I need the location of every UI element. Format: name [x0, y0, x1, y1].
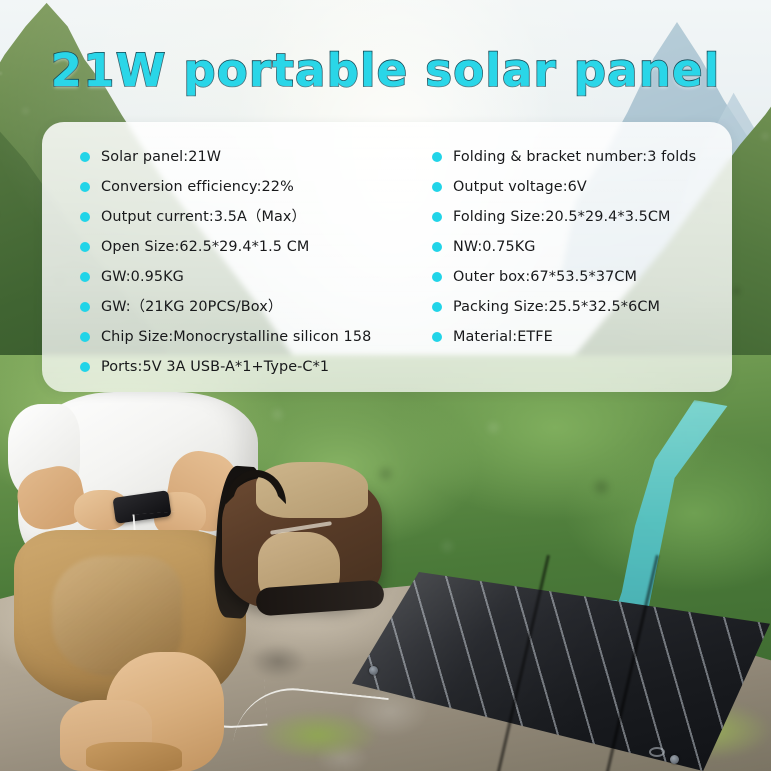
list-item: Folding Size:20.5*29.4*3.5CM [432, 202, 732, 232]
bullet-dot-icon [432, 182, 442, 192]
spec-label: Packing Size:25.5*32.5*6CM [453, 292, 660, 322]
list-item: GW:0.95KG [80, 262, 432, 292]
list-item: Solar panel:21W [80, 142, 432, 172]
spec-label: Folding Size:20.5*29.4*3.5CM [453, 202, 671, 232]
spec-label: Output current:3.5A（Max） [101, 202, 306, 232]
list-item: Output current:3.5A（Max） [80, 202, 432, 232]
bullet-dot-icon [80, 362, 90, 372]
bullet-dot-icon [80, 302, 90, 312]
spec-column-right: Folding & bracket number:3 folds Output … [432, 122, 732, 392]
spec-label: Open Size:62.5*29.4*1.5 CM [101, 232, 309, 262]
spec-label: NW:0.75KG [453, 232, 536, 262]
list-item: GW:（21KG 20PCS/Box） [80, 292, 432, 322]
spec-label: GW:0.95KG [101, 262, 184, 292]
bullet-dot-icon [80, 242, 90, 252]
spec-label: Chip Size:Monocrystalline silicon 158 [101, 322, 371, 352]
bullet-dot-icon [432, 302, 442, 312]
person-foot [86, 742, 182, 771]
spec-label: Output voltage:6V [453, 172, 587, 202]
spec-card: Solar panel:21W Conversion efficiency:22… [42, 122, 732, 392]
spec-label: Outer box:67*53.5*37CM [453, 262, 637, 292]
list-item: Packing Size:25.5*32.5*6CM [432, 292, 732, 322]
list-item: Ports:5V 3A USB-A*1+Type-C*1 [80, 352, 432, 382]
list-item: Open Size:62.5*29.4*1.5 CM [80, 232, 432, 262]
bullet-dot-icon [80, 332, 90, 342]
list-item: Outer box:67*53.5*37CM [432, 262, 732, 292]
solar-panel-logo [649, 747, 665, 757]
list-item: Material:ETFE [432, 322, 732, 352]
list-item: Folding & bracket number:3 folds [432, 142, 732, 172]
bullet-dot-icon [80, 182, 90, 192]
bullet-dot-icon [80, 272, 90, 282]
bullet-dot-icon [432, 242, 442, 252]
bullet-dot-icon [432, 152, 442, 162]
solar-panel-icon [352, 572, 770, 771]
spec-label: Conversion efficiency:22% [101, 172, 294, 202]
spec-label: Ports:5V 3A USB-A*1+Type-C*1 [101, 352, 329, 382]
solar-panel-grommet [369, 666, 378, 675]
list-item: Output voltage:6V [432, 172, 732, 202]
bullet-dot-icon [432, 272, 442, 282]
solar-panel-grommet [670, 755, 679, 764]
page-title: 21W portable solar panel [0, 44, 771, 97]
solar-panel-sheen [352, 572, 770, 771]
spec-column-left: Solar panel:21W Conversion efficiency:22… [42, 122, 432, 392]
bullet-dot-icon [80, 212, 90, 222]
spec-label: Material:ETFE [453, 322, 553, 352]
bullet-dot-icon [432, 212, 442, 222]
list-item: NW:0.75KG [432, 232, 732, 262]
bullet-dot-icon [80, 152, 90, 162]
spec-label: Folding & bracket number:3 folds [453, 142, 696, 172]
list-item: Conversion efficiency:22% [80, 172, 432, 202]
list-item: Chip Size:Monocrystalline silicon 158 [80, 322, 432, 352]
spec-label: GW:（21KG 20PCS/Box） [101, 292, 282, 322]
product-infographic: 21W portable solar panel Solar panel:21W… [0, 0, 771, 771]
spec-label: Solar panel:21W [101, 142, 221, 172]
bullet-dot-icon [432, 332, 442, 342]
